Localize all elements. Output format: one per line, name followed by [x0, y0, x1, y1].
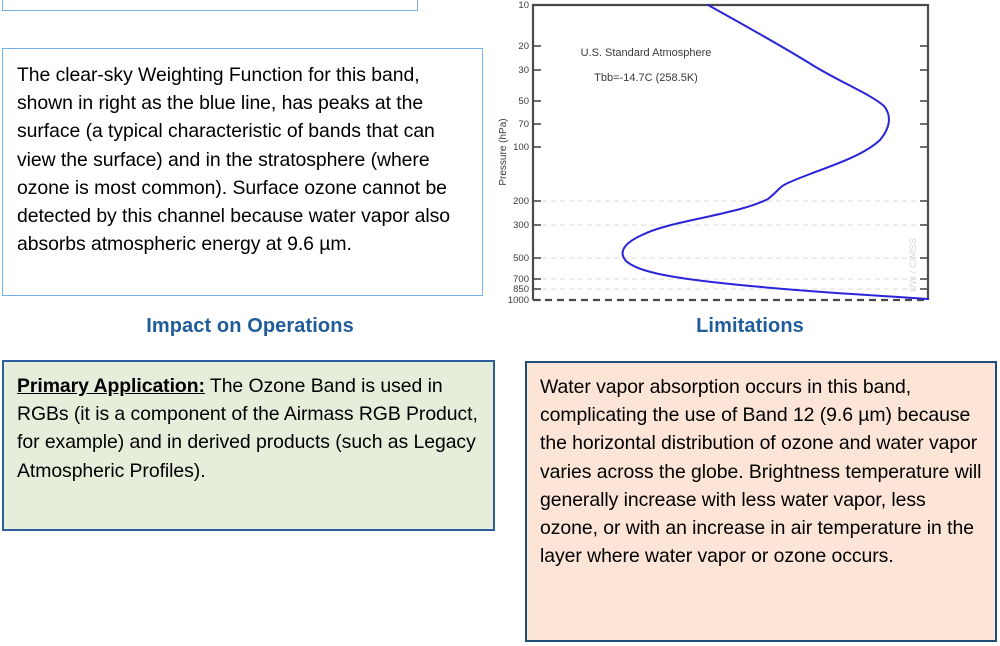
y-tick-label: 500 — [513, 253, 529, 264]
heading-impact-on-operations: Impact on Operations — [0, 315, 500, 338]
y-tick-label: 850 — [513, 284, 529, 295]
y-tick-label: 20 — [518, 41, 529, 52]
impact-text-wrapper: Primary Application: The Ozone Band is u… — [17, 372, 481, 485]
chart-annotation-atmosphere: U.S. Standard Atmosphere — [581, 47, 712, 59]
y-tick-label: 70 — [518, 119, 529, 130]
y-tick-label: 200 — [513, 196, 529, 207]
impact-on-operations-box: Primary Application: The Ozone Band is u… — [2, 360, 495, 531]
y-tick-label: 300 — [513, 220, 529, 231]
y-tick-label: 30 — [518, 65, 529, 76]
top-partial-text-box — [2, 0, 418, 11]
weighting-function-chart: 10 20 30 50 70 100 200 300 500 700 850 1… — [492, 0, 992, 306]
y-tick-label: 50 — [518, 96, 529, 107]
y-tick-labels: 10 20 30 50 70 100 200 300 500 700 850 1… — [508, 0, 529, 306]
chart-watermark: UW / CIMSS — [908, 238, 919, 292]
heading-limitations: Limitations — [510, 315, 990, 338]
primary-application-label: Primary Application: — [17, 375, 205, 397]
y-tick-label: 1000 — [508, 295, 529, 306]
limitations-box: Water vapor absorption occurs in this ba… — [525, 361, 997, 642]
limitations-text: Water vapor absorption occurs in this ba… — [540, 373, 983, 571]
chart-annotation-tbb: Tbb=-14.7C (258.5K) — [594, 72, 698, 84]
y-axis-title: Pressure (hPa) — [498, 118, 509, 185]
description-text: The clear-sky Weighting Function for thi… — [17, 61, 468, 259]
y-tick-label: 100 — [513, 142, 529, 153]
weighting-function-description-box: The clear-sky Weighting Function for thi… — [2, 48, 483, 296]
y-tick-label: 10 — [518, 0, 529, 11]
weighting-function-plot: 10 20 30 50 70 100 200 300 500 700 850 1… — [492, 0, 992, 306]
